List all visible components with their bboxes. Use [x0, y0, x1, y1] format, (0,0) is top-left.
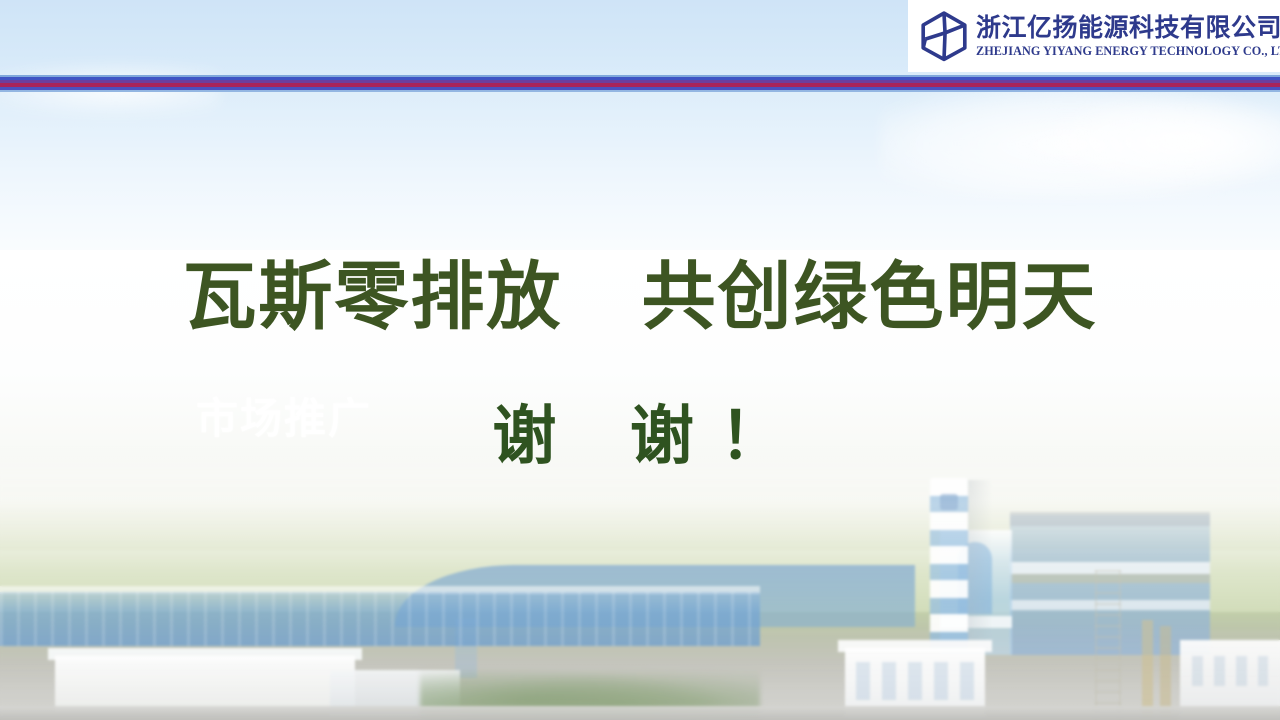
hexagon-cube-logo-icon [916, 8, 972, 64]
industrial-plant-illustration [0, 470, 1280, 720]
stripe-line-6 [0, 90, 1280, 92]
cloud-shape [1040, 96, 1280, 186]
company-name-cn: 浙江亿扬能源科技有限公司 [976, 14, 1280, 42]
thanks-char-1: 谢 [492, 400, 560, 472]
thanks-char-2: 谢 [630, 400, 698, 472]
presentation-slide: 浙江亿扬能源科技有限公司 ZHEJIANG YIYANG ENERGY TECH… [0, 0, 1280, 720]
thanks-exclamation: ！ [720, 400, 788, 472]
headline-part-2: 共创绿色明天 [642, 255, 1098, 338]
slide-headline: 瓦斯零排放 共创绿色明天 [0, 258, 1280, 336]
thank-you-line: 谢 谢 ！ [0, 403, 1280, 470]
headline-part-1: 瓦斯零排放 [182, 255, 562, 338]
photo-blur-overlay [0, 470, 1280, 720]
decorative-stripe-bar [0, 75, 1280, 92]
company-logo-panel: 浙江亿扬能源科技有限公司 ZHEJIANG YIYANG ENERGY TECH… [908, 0, 1280, 72]
company-name-en: ZHEJIANG YIYANG ENERGY TECHNOLOGY CO., L… [976, 44, 1280, 59]
logo-text-block: 浙江亿扬能源科技有限公司 ZHEJIANG YIYANG ENERGY TECH… [976, 14, 1280, 59]
